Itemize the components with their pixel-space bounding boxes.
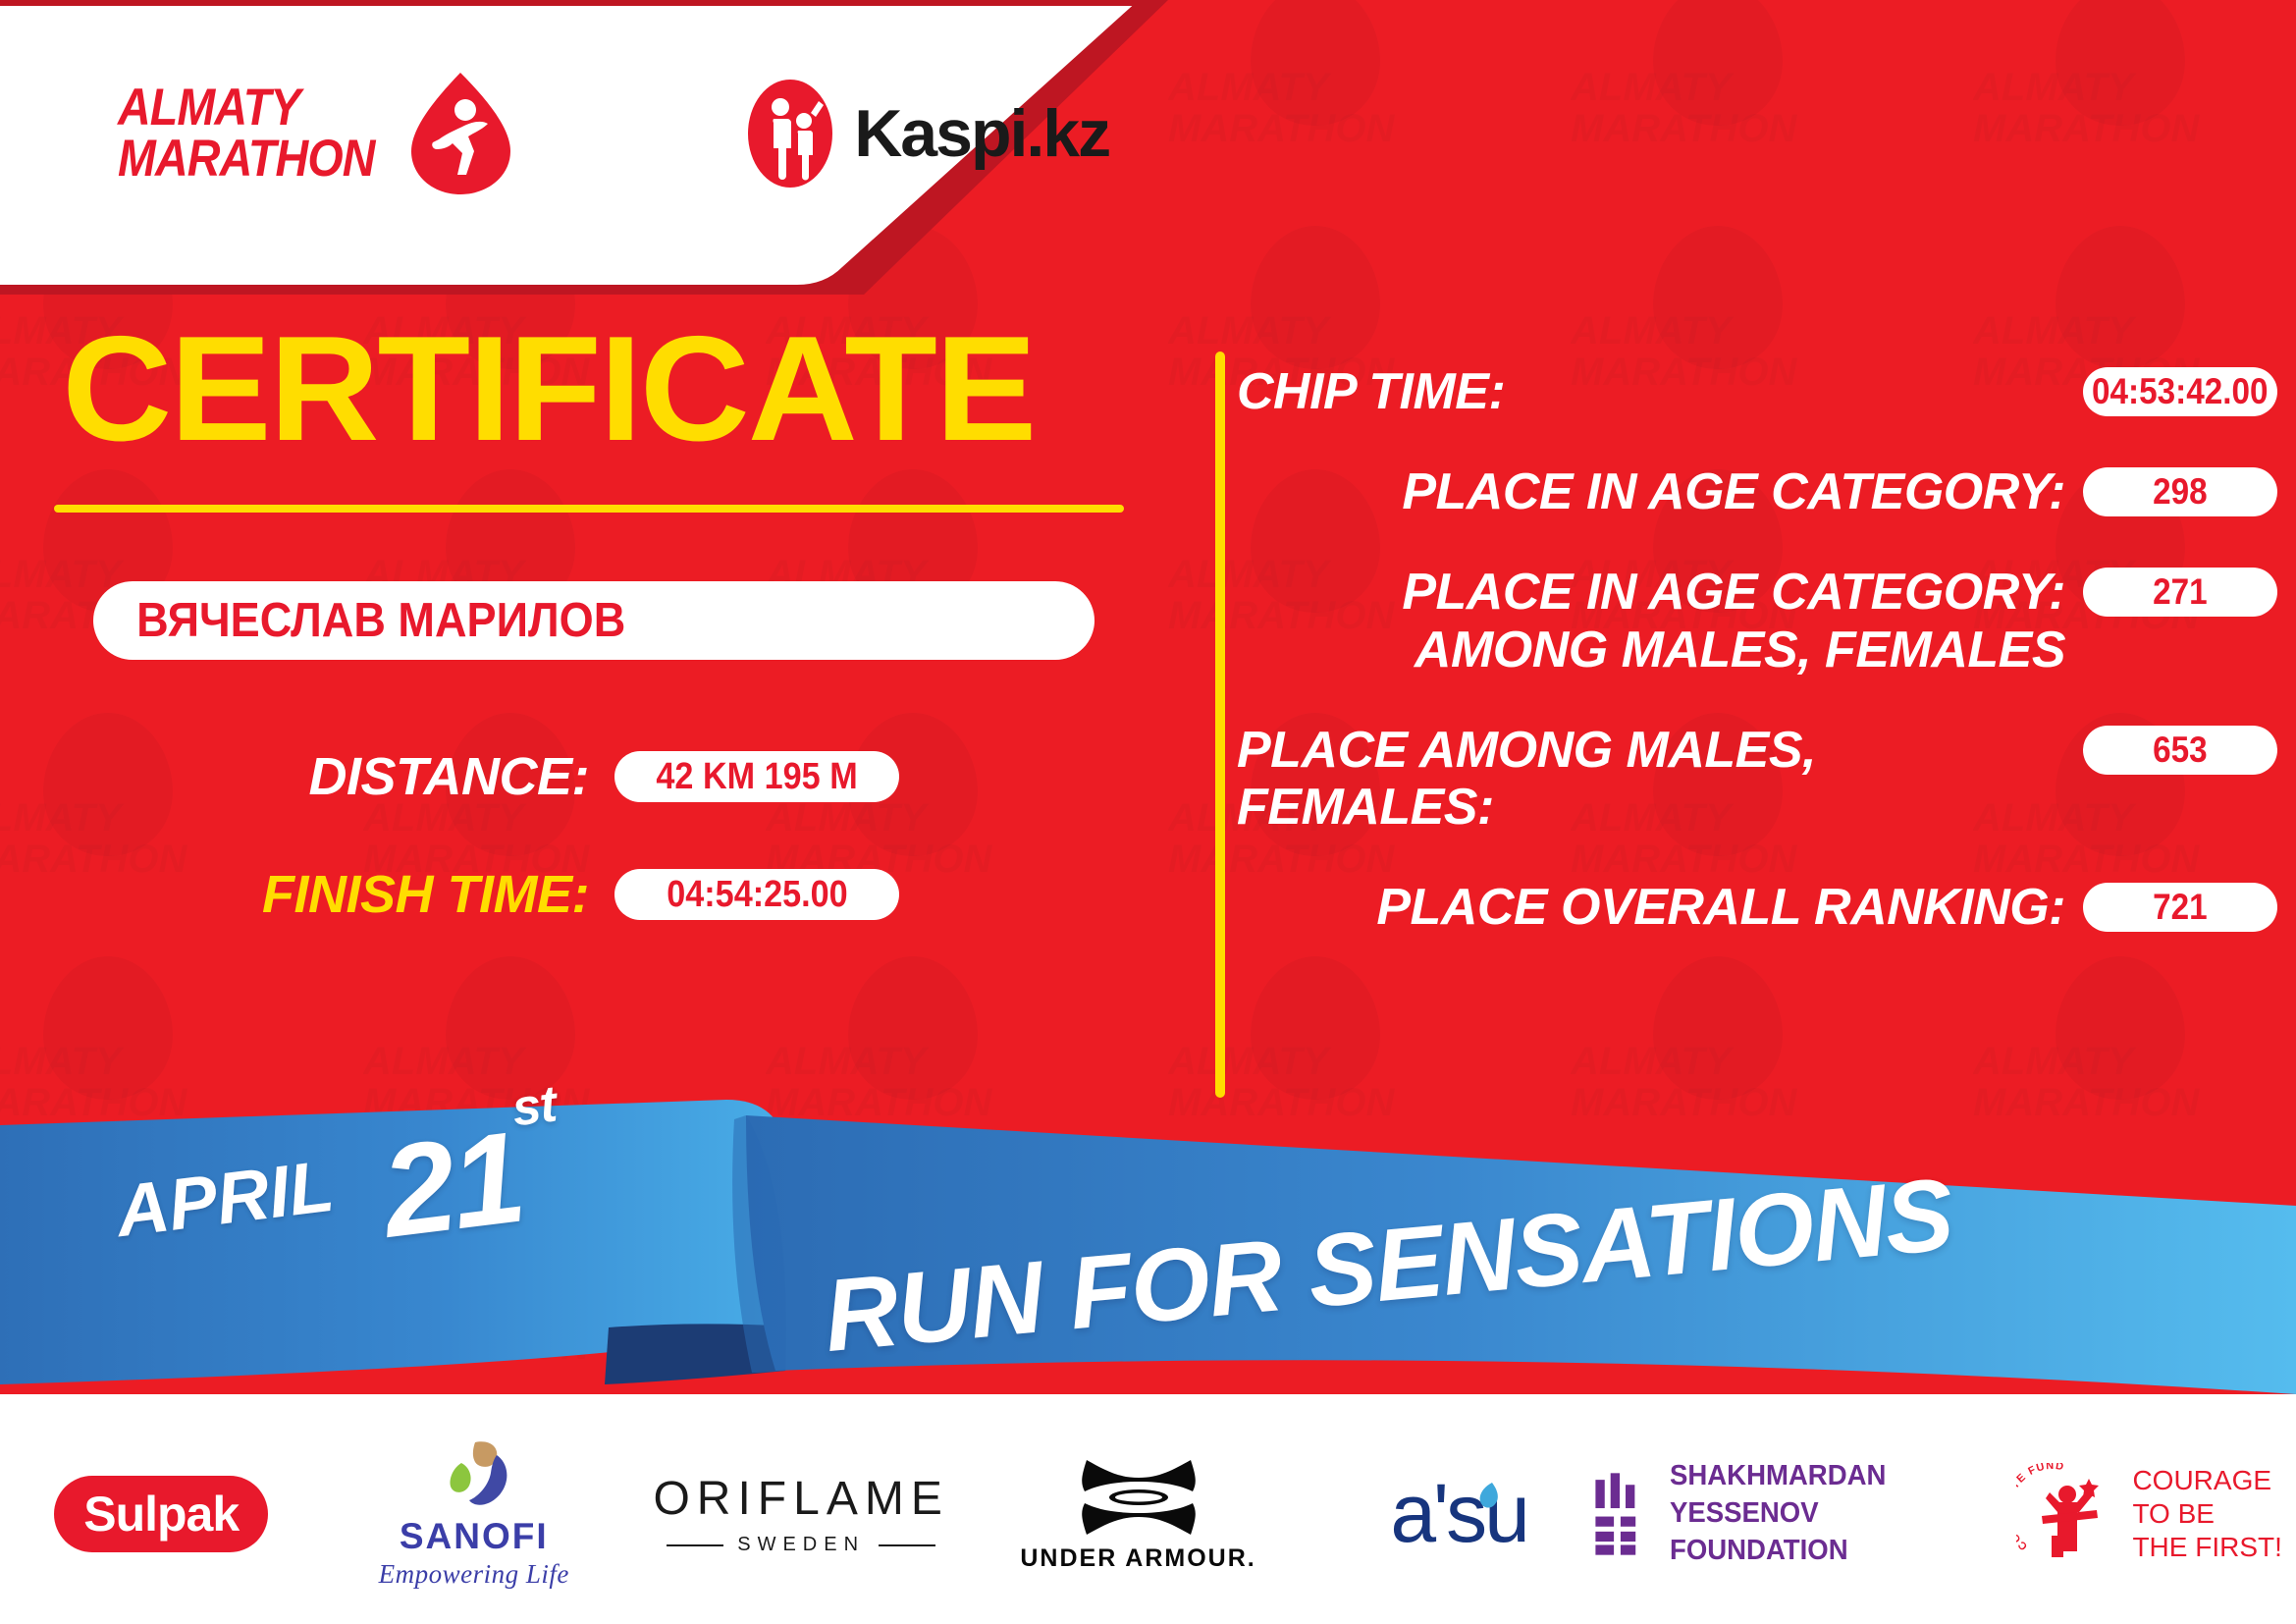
place-age-category-gender-label-line1: PLACE IN AGE CATEGORY: (1237, 564, 2065, 621)
almaty-marathon-logo: ALMATY MARATHON (118, 71, 512, 196)
yessenov-bars-icon (1592, 1466, 1644, 1562)
participant-name-field: ВЯЧЕСЛАВ МАРИЛОВ (93, 581, 1095, 660)
place-among-gender-row: PLACE AMONG MALES, FEMALES: 653 (1237, 722, 2277, 836)
asu-droplet-icon (1476, 1481, 1502, 1524)
title-divider (54, 505, 1124, 513)
finish-time-value-pill: 04:54:25.00 (614, 869, 899, 920)
runner-droplet-icon (409, 71, 512, 196)
sulpak-label: Sulpak (83, 1486, 239, 1543)
sponsor-bar: Sulpak SANOFI Empowering Life ORIFLAME S… (0, 1404, 2296, 1624)
certificate-page: ALMATY MARATHON ALMATY (0, 0, 2296, 1624)
participant-name: ВЯЧЕСЛАВ МАРИЛОВ (93, 593, 625, 648)
sulpak-badge: Sulpak (54, 1476, 268, 1552)
chip-time-label: CHIP TIME: (1237, 363, 2083, 420)
left-column: CERTIFICATE ВЯЧЕСЛАВ МАРИЛОВ DISTANCE: 4… (0, 314, 1178, 925)
oriflame-rule-right (879, 1544, 935, 1546)
place-among-gender-label-line1: PLACE AMONG MALES, (1237, 722, 2065, 779)
distance-row: DISTANCE: 42 KM 195 M (0, 746, 1178, 807)
oriflame-rule-left (667, 1544, 723, 1546)
chip-time-value-pill: 04:53:42.00 (2083, 367, 2277, 416)
sponsor-yessenov-foundation: SHAKHMARDAN YESSENOV FOUNDATION (1592, 1440, 2002, 1588)
ribbon-day: 21st (374, 1097, 572, 1266)
sponsor-courage-fund: CORPORATE FUND COURAGE TO BE THE FIRST! (2002, 1440, 2296, 1588)
asu-label: a'su (1390, 1477, 1526, 1551)
distance-value-pill: 42 KM 195 M (614, 751, 899, 802)
yessenov-label-line2: FOUNDATION (1670, 1533, 1986, 1570)
yessenov-label-line1: SHAKHMARDAN YESSENOV (1670, 1458, 1986, 1532)
almaty-marathon-line2: MARATHON (118, 134, 375, 185)
right-column: CHIP TIME: 04:53:42.00 PLACE IN AGE CATE… (1237, 363, 2277, 980)
place-among-gender-label: PLACE AMONG MALES, FEMALES: (1237, 722, 2083, 836)
distance-label: DISTANCE: (0, 746, 614, 807)
place-age-category-gender-label: PLACE IN AGE CATEGORY: AMONG MALES, FEMA… (1237, 564, 2083, 677)
oriflame-sub: SWEDEN (737, 1534, 865, 1556)
place-age-category-value-pill: 298 (2083, 467, 2277, 516)
place-age-category-label: PLACE IN AGE CATEGORY: (1237, 463, 2083, 520)
courage-label-line2: TO BE (2132, 1497, 2281, 1531)
page-title: CERTIFICATE (0, 314, 1201, 463)
oriflame-label: ORIFLAME (653, 1472, 948, 1526)
almaty-marathon-line1: ALMATY (118, 82, 375, 134)
sanofi-label: SANOFI (400, 1516, 549, 1557)
place-age-category-gender-value-pill: 271 (2083, 568, 2277, 617)
courage-label-line1: COURAGE (2132, 1464, 2281, 1497)
distance-value: 42 KM 195 M (656, 756, 857, 798)
sanofi-bird-icon (432, 1439, 516, 1514)
courage-runner-icon: CORPORATE FUND (2016, 1463, 2118, 1565)
kaspi-figures-icon (748, 80, 832, 188)
ribbon-day-suffix: st (509, 1075, 560, 1137)
finish-time-value: 04:54:25.00 (667, 874, 847, 916)
place-age-category-row: PLACE IN AGE CATEGORY: 298 (1237, 463, 2277, 520)
finish-time-row: FINISH TIME: 04:54:25.00 (0, 864, 1178, 925)
place-among-gender-value: 653 (2153, 730, 2208, 771)
chip-time-row: CHIP TIME: 04:53:42.00 (1237, 363, 2277, 420)
sanofi-tagline: Empowering Life (379, 1559, 569, 1590)
place-overall-value: 721 (2153, 887, 2208, 928)
chip-time-value: 04:53:42.00 (2092, 371, 2269, 412)
place-age-category-value: 298 (2153, 471, 2208, 513)
vertical-divider (1215, 352, 1225, 1098)
place-age-category-gender-value: 271 (2153, 571, 2208, 613)
sponsor-sulpak: Sulpak (0, 1440, 322, 1588)
sponsor-under-armour: UNDER ARMOUR. (977, 1440, 1299, 1588)
ribbon-day-number: 21 (375, 1105, 530, 1265)
finish-time-label: FINISH TIME: (0, 864, 614, 925)
place-among-gender-value-pill: 653 (2083, 726, 2277, 775)
place-overall-row: PLACE OVERALL RANKING: 721 (1237, 879, 2277, 936)
place-age-category-gender-label-line2: AMONG MALES, FEMALES (1237, 622, 2065, 678)
under-armour-icon (1075, 1456, 1202, 1539)
header-logos: ALMATY MARATHON Kaspi.k (0, 0, 1178, 267)
sponsor-asu: a'su (1300, 1440, 1593, 1588)
kaspi-logo: Kaspi.kz (748, 80, 1109, 188)
kaspi-wordmark: Kaspi.kz (854, 95, 1109, 172)
sponsor-sanofi: SANOFI Empowering Life (322, 1440, 625, 1588)
place-age-category-gender-row: PLACE IN AGE CATEGORY: AMONG MALES, FEMA… (1237, 564, 2277, 677)
place-overall-value-pill: 721 (2083, 883, 2277, 932)
sponsor-oriflame: ORIFLAME SWEDEN (625, 1440, 977, 1588)
place-among-gender-label-line2: FEMALES: (1237, 779, 2065, 836)
courage-label-line3: THE FIRST! (2132, 1531, 2281, 1564)
under-armour-label: UNDER ARMOUR. (1020, 1544, 1255, 1573)
place-overall-label: PLACE OVERALL RANKING: (1237, 879, 2083, 936)
